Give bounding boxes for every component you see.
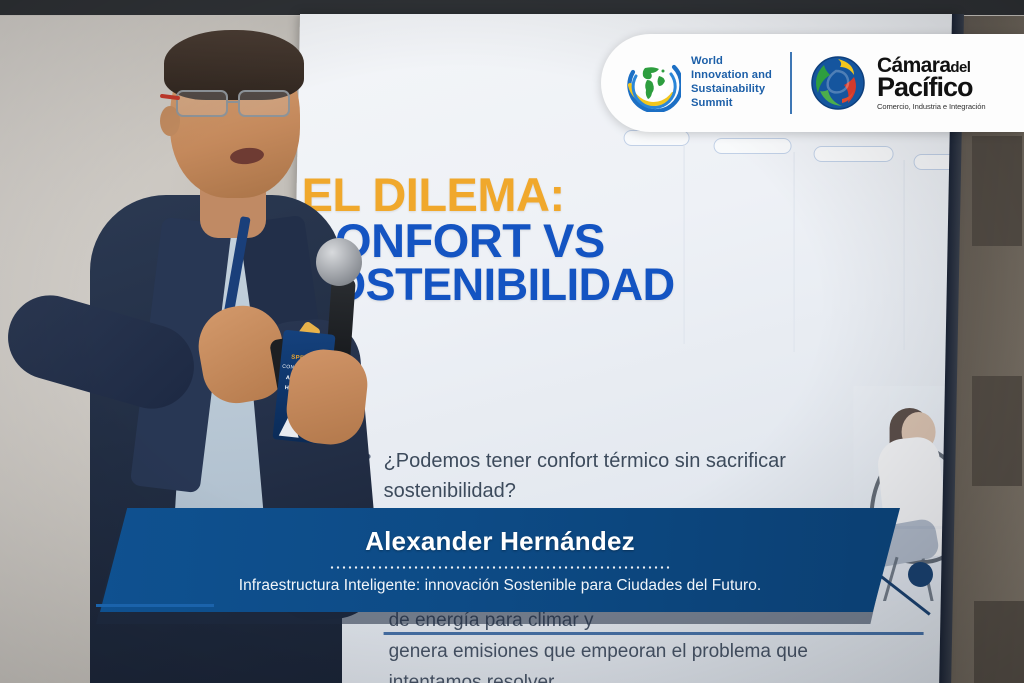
photo-canvas: EL DILEMA: CONFORT VS SOSTENIBILIDAD ¿Po…	[0, 0, 1024, 683]
camara-wordmark: Cámaradel Pacífico Comercio, Industria e…	[877, 55, 986, 111]
logo-header: World Innovation and Sustainability Summ…	[601, 34, 1024, 132]
speaker-banner: Alexander Hernández Infraestructura Inte…	[100, 508, 900, 612]
slide-pill	[814, 146, 894, 162]
eyeglasses-icon	[176, 90, 304, 118]
globe-icon	[623, 54, 681, 112]
glasses-bridge	[228, 101, 240, 103]
accent-line-left	[96, 604, 214, 607]
speaker-name: Alexander Hernández	[365, 526, 635, 557]
lens-right	[238, 90, 290, 117]
wiss-line4: Summit	[691, 97, 733, 109]
talk-title: Infraestructura Inteligente: innovación …	[239, 577, 762, 595]
wiss-wordmark: World Innovation and Sustainability Summ…	[691, 55, 772, 111]
slide-pill	[714, 138, 792, 154]
slide-pill	[624, 130, 690, 146]
wiss-line1: World	[691, 55, 723, 67]
slide-bullet-text: ¿Podemos tener confort térmico sin sacri…	[384, 450, 786, 502]
accent-dot	[908, 562, 933, 587]
wall-panel	[974, 601, 1024, 683]
camara-line2: Pacífico	[877, 74, 986, 101]
camara-pacifico-logo: Cámaradel Pacífico Comercio, Industria e…	[808, 53, 986, 113]
slide-bullet: ¿Podemos tener confort térmico sin sacri…	[384, 446, 814, 506]
wiss-line3: Sustainability	[691, 83, 765, 95]
wiss-logo: World Innovation and Sustainability Summ…	[623, 54, 772, 112]
microphone-icon	[316, 238, 362, 286]
slide-body-line2: genera emisiones que empeoran el problem…	[389, 637, 859, 668]
swirl-sphere-icon	[808, 53, 868, 113]
banner-dotted-divider	[329, 566, 671, 569]
lens-left	[176, 90, 228, 117]
wiss-line2: Innovation and	[691, 69, 772, 81]
logo-divider	[790, 52, 792, 114]
slide-body-line3: intentamos resolver.	[389, 668, 859, 683]
camara-tagline: Comercio, Industria e Integración	[877, 103, 986, 111]
